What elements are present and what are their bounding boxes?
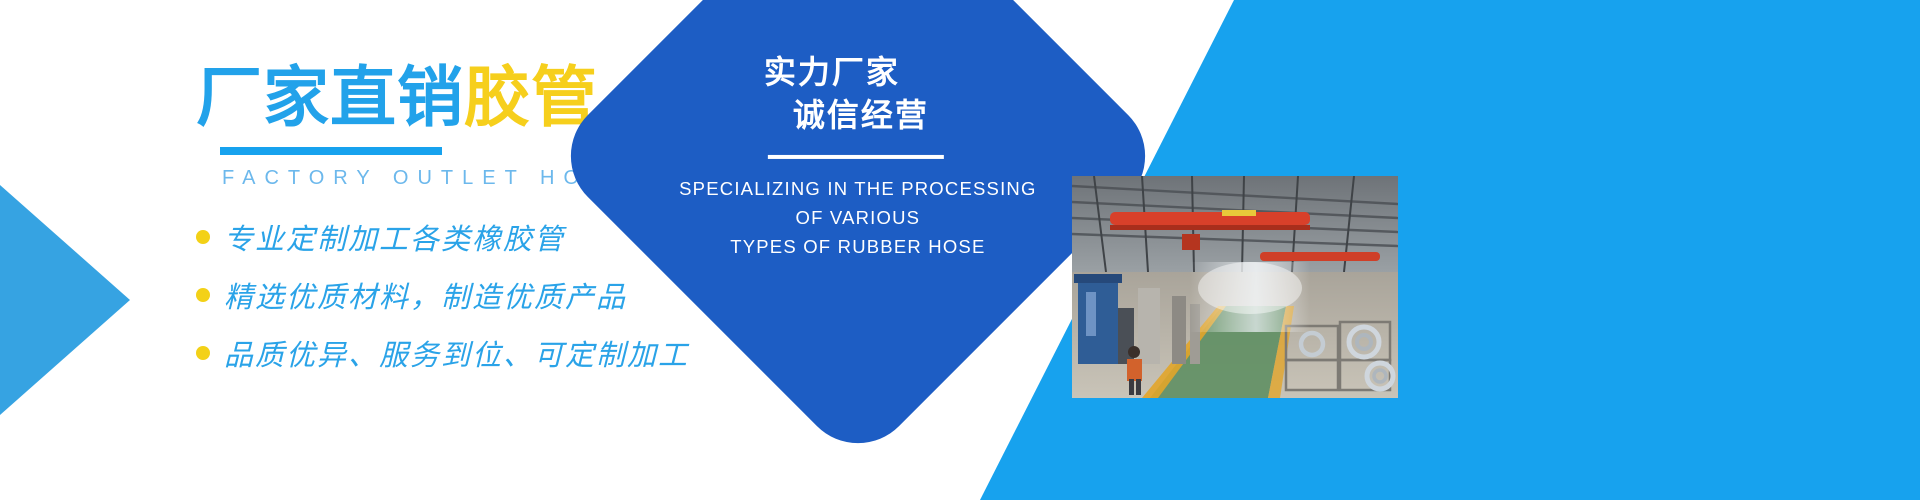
factory-photo [1072,176,1398,398]
badge-chinese-title: 实力厂家 诚信经营 [658,51,1058,137]
badge-divider [768,155,944,159]
promo-banner: 厂家直销胶管 FACTORY OUTLET HOSE 专业定制加工各类橡胶管 精… [0,0,1920,500]
list-item-label: 精选优质材料，制造优质产品 [224,274,627,316]
badge-chinese-line-1: 实力厂家 [606,51,1058,94]
background-left-chevron [0,185,140,415]
badge-english-line-1: SPECIALIZING IN THE PROCESSING [658,175,1058,204]
headline-divider [220,147,442,155]
bullet-dot-icon [196,346,210,360]
badge-english-line-2: OF VARIOUS [658,204,1058,233]
badge-english-text: SPECIALIZING IN THE PROCESSING OF VARIOU… [658,175,1058,261]
factory-photo-illustration [1072,176,1398,398]
badge-english-line-3: TYPES OF RUBBER HOSE [658,233,1058,262]
headline-part-primary: 厂家直销 [196,60,464,134]
badge-content: 实力厂家 诚信经营 SPECIALIZING IN THE PROCESSING… [658,51,1058,261]
badge-chinese-line-2: 诚信经营 [664,94,1058,137]
bullet-dot-icon [196,288,210,302]
list-item: 精选优质材料，制造优质产品 [196,274,716,316]
list-item-label: 专业定制加工各类橡胶管 [224,216,565,258]
headline-part-accent: 胶管 [464,60,598,134]
list-item-label: 品质优异、服务到位、可定制加工 [224,332,689,374]
bullet-dot-icon [196,230,210,244]
list-item: 品质优异、服务到位、可定制加工 [196,332,716,374]
